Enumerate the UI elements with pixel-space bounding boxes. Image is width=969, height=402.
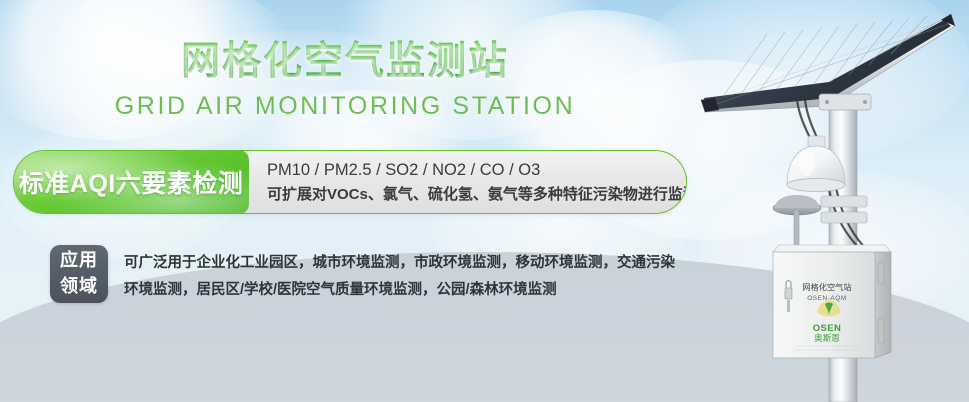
aqi-badge: 标准AQI六要素检测: [13, 150, 249, 214]
application-badge: 应用 领域: [50, 245, 108, 303]
application-badge-line2: 领域: [60, 274, 98, 300]
application-description: 可广泛用于企业化工业园区，城市环境监测，市政环境监测，移动环境监测，交通污染 环…: [124, 245, 675, 304]
headline-group: 网格化空气监测站 GRID AIR MONITORING STATION: [0, 40, 690, 120]
weather-sensor-group: [773, 195, 821, 252]
application-badge-line1: 应用: [60, 248, 98, 274]
application-description-line1: 可广泛用于企业化工业园区，城市环境监测，市政环境监测，移动环境监测，交通污染: [124, 250, 675, 277]
page-title: 网格化空气监测站: [0, 40, 690, 85]
pole-clamp-group: [821, 196, 867, 223]
application-description-line2: 环境监测，居民区/学校/医院空气质量环境监测，公园/森林环境监测: [124, 277, 675, 304]
dome-camera-group: [787, 136, 845, 192]
aqi-feature-pill: 标准AQI六要素检测 PM10 / PM2.5 / SO2 / NO2 / CO…: [13, 150, 687, 214]
solar-panel-group: [701, 14, 955, 112]
aqi-parameters-line: PM10 / PM2.5 / SO2 / NO2 / CO / O3: [267, 158, 687, 183]
cable-bundle: [797, 100, 869, 252]
page-subtitle: GRID AIR MONITORING STATION: [0, 93, 690, 121]
grid-air-monitoring-station-banner: 网格化空气监测站 GRID AIR MONITORING STATION 标准A…: [0, 0, 969, 402]
application-section: 应用 领域 可广泛用于企业化工业园区，城市环境监测，市政环境监测，移动环境监测，…: [50, 245, 675, 304]
aqi-details: PM10 / PM2.5 / SO2 / NO2 / CO / O3 可扩展对V…: [249, 151, 687, 213]
aqi-extension-line: 可扩展对VOCs、氯气、硫化氢、氨气等多种特征污染物进行监测: [267, 183, 687, 206]
aqi-badge-label: 标准AQI六要素检测: [19, 164, 243, 200]
